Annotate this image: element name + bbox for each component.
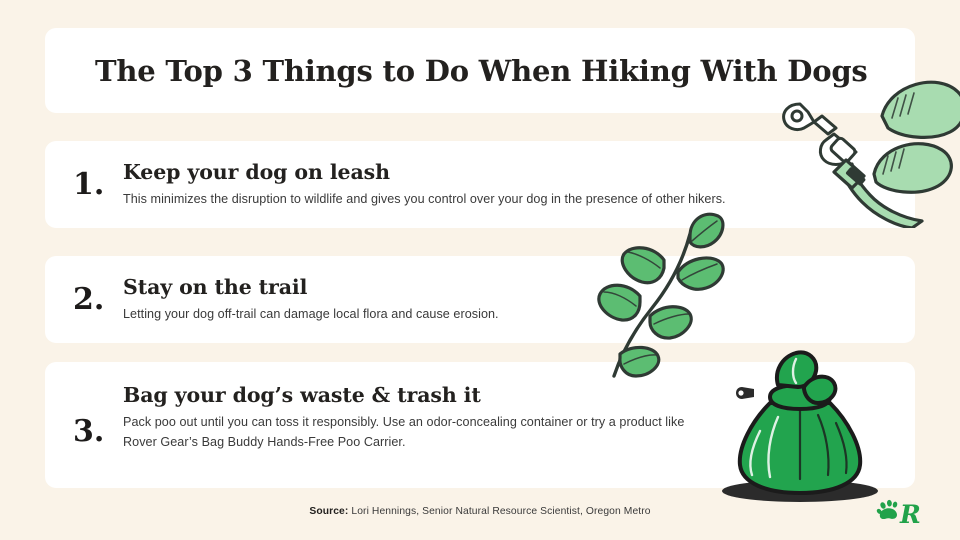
rover-logo: R [876,498,928,528]
source-label: Source: [309,506,348,517]
tip-heading-3: Bag your dog’s waste & trash it [123,383,895,408]
tip-number-3: 3. [73,417,104,447]
tip-card-2: 2. Stay on the trail Letting your dog of… [45,256,915,343]
tip-card-3: 3. Bag your dog’s waste & trash it Pack … [45,362,915,488]
tip-body-1: Keep your dog on leash This minimizes th… [123,160,895,210]
tip-card-1: 1. Keep your dog on leash This minimizes… [45,141,915,228]
tip-body-3: Bag your dog’s waste & trash it Pack poo… [123,383,895,452]
tip-description-1: This minimizes the disruption to wildlif… [123,190,883,210]
page-title: The Top 3 Things to Do When Hiking With … [95,54,868,88]
source-text: Lori Hennings, Senior Natural Resource S… [348,506,650,517]
infographic-canvas: The Top 3 Things to Do When Hiking With … [0,0,960,540]
tip-heading-1: Keep your dog on leash [123,160,895,185]
rover-logo-letter: R [899,500,921,528]
tip-description-2: Letting your dog off-trail can damage lo… [123,305,883,325]
paw-print-icon [876,500,898,519]
title-card: The Top 3 Things to Do When Hiking With … [45,28,915,113]
tip-body-2: Stay on the trail Letting your dog off-t… [123,275,895,325]
source-line: Source: Lori Hennings, Senior Natural Re… [0,506,960,517]
tip-description-3: Pack poo out until you can toss it respo… [123,413,698,452]
tip-number-2: 2. [73,285,104,315]
tip-heading-2: Stay on the trail [123,275,895,300]
tip-number-1: 1. [73,170,104,200]
